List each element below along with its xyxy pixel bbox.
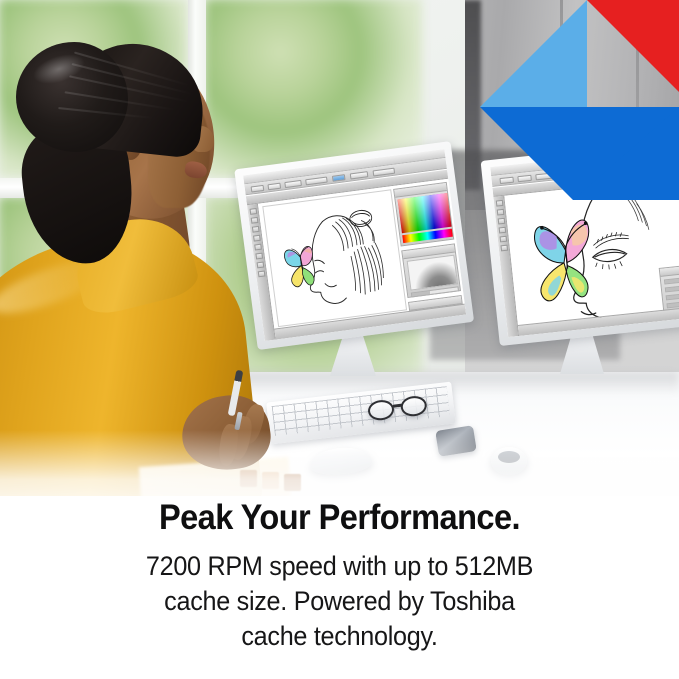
layer-row[interactable] — [664, 277, 679, 284]
layer-row[interactable] — [666, 293, 679, 300]
advertisement-banner: Peak Your Performance. 7200 RPM speed wi… — [0, 0, 679, 679]
toolbar-chip[interactable] — [305, 176, 328, 185]
monitor-screen-right — [490, 148, 679, 337]
toolbar-chip[interactable] — [575, 168, 596, 176]
color-picker-panel[interactable] — [393, 182, 454, 247]
layer-row[interactable] — [665, 285, 679, 292]
hero-photo — [0, 0, 679, 500]
subcopy-line-2: cache size. Powered by Toshiba — [17, 584, 662, 619]
histogram-curve — [408, 256, 457, 290]
color-swatch-grid[interactable] — [398, 193, 452, 233]
toolbar-chip[interactable] — [517, 174, 532, 181]
toolbar-chip-active[interactable] — [332, 174, 346, 182]
toolbar-chip[interactable] — [372, 167, 395, 176]
tool-button[interactable] — [500, 236, 508, 243]
artwork-zoomed-butterfly-face — [507, 183, 663, 334]
toolbar-chip[interactable] — [499, 176, 514, 183]
subcopy: 7200 RPM speed with up to 512MB cache si… — [17, 549, 662, 654]
toolbar-chip[interactable] — [623, 163, 642, 171]
artwork-canvas[interactable] — [507, 183, 663, 334]
photo-white-fade — [0, 430, 679, 500]
histogram-graph — [407, 255, 459, 291]
right-monitor — [481, 140, 679, 346]
toolbar-chip[interactable] — [535, 172, 554, 180]
subcopy-line-1: 7200 RPM speed with up to 512MB — [17, 549, 662, 584]
subcopy-line-3: cache technology. — [17, 619, 662, 654]
panel-header — [660, 266, 679, 276]
toolbar-chip[interactable] — [599, 165, 620, 173]
glasses-lens-left — [367, 399, 395, 422]
tool-button[interactable] — [498, 218, 506, 225]
tool-button[interactable] — [500, 245, 508, 252]
tool-button[interactable] — [496, 200, 504, 207]
toolbar-chip[interactable] — [350, 171, 369, 179]
toolbar-chip-active[interactable] — [557, 170, 572, 177]
headline: Peak Your Performance. — [24, 496, 655, 540]
glasses-lens-right — [400, 395, 428, 418]
tool-button[interactable] — [497, 209, 505, 216]
histogram-panel[interactable] — [401, 243, 461, 298]
tool-button[interactable] — [499, 227, 507, 234]
copy-block: Peak Your Performance. 7200 RPM speed wi… — [0, 496, 679, 660]
